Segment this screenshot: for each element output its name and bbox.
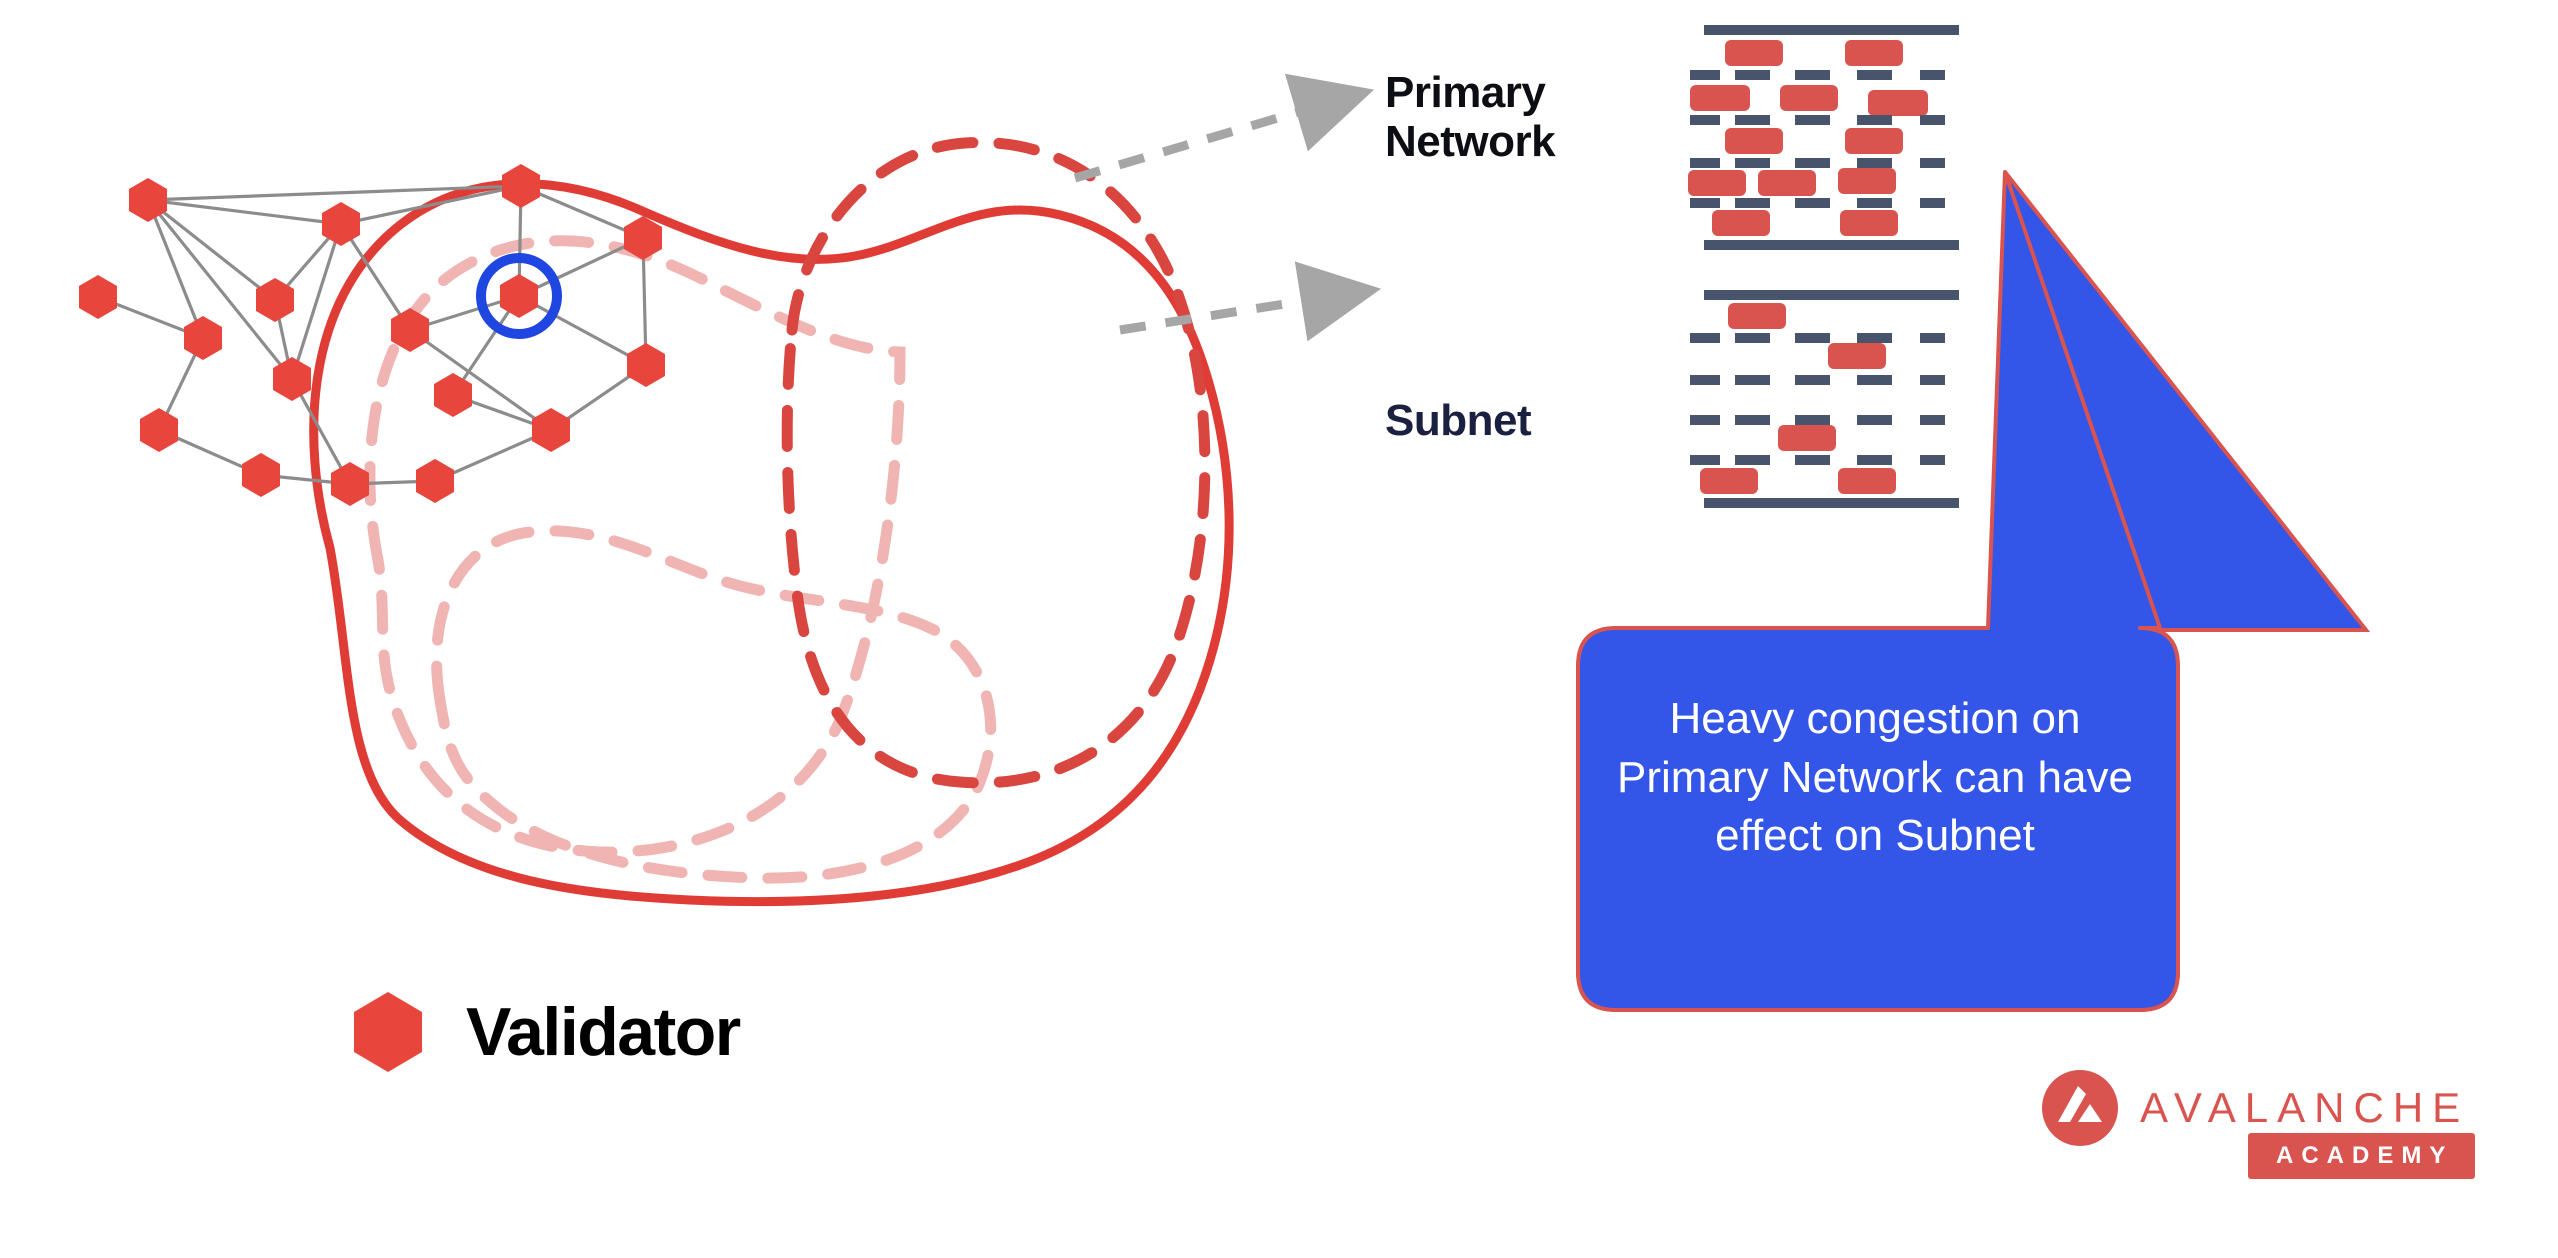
legend: Validator	[350, 990, 740, 1074]
callout-text: Heavy congestion on Primary Network can …	[1595, 690, 2155, 866]
primary-network-label-line2: Network	[1385, 117, 1685, 166]
logo-academy-badge: ACADEMY	[2248, 1133, 2475, 1179]
callout-shape	[1578, 172, 2178, 1010]
primary-network-label-line1: Primary	[1385, 68, 1685, 117]
diagram-canvas: Primary Network Subnet Heavy congestion …	[0, 0, 2558, 1258]
hexagon-icon	[350, 990, 426, 1074]
primary-network-label: Primary Network	[1385, 68, 1685, 167]
logo-wordmark: AVALANCHE	[2140, 1084, 2469, 1132]
avalanche-mountain-icon	[2040, 1068, 2120, 1148]
legend-validator-label: Validator	[466, 993, 740, 1071]
subnet-label: Subnet	[1385, 396, 1531, 446]
